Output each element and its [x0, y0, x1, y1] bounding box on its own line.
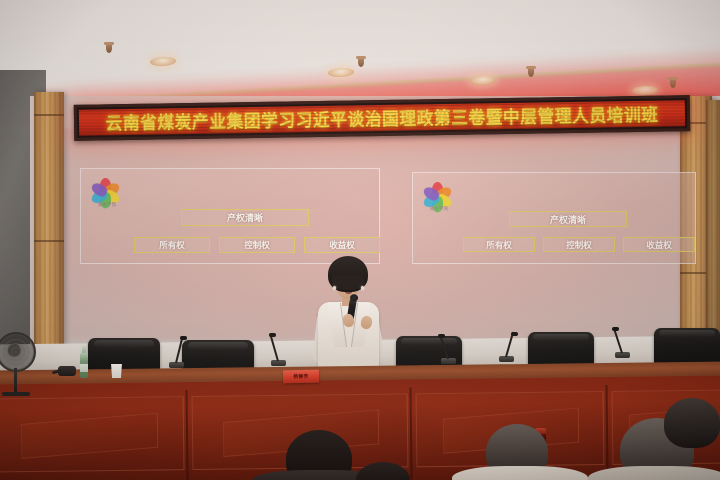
projection-screen-right: 清木学院 产权清晰 所有权 控制权 收益权 — [412, 172, 696, 264]
desk-microphone — [496, 328, 518, 362]
slide-logo-right: 清木学院 — [421, 179, 455, 217]
gavel — [58, 366, 76, 376]
stage-chair — [654, 328, 720, 366]
stage-table-front — [0, 376, 720, 480]
nameplate-text: 杨静芳 — [293, 373, 308, 380]
slide-box-control: 控制权 — [219, 237, 295, 253]
slide-logo-caption: 清木学院 — [423, 206, 455, 213]
table-panel-seam — [409, 387, 412, 479]
audience-shoulder — [588, 466, 720, 480]
desk-microphone — [438, 330, 460, 364]
audience-shoulder — [452, 466, 588, 480]
slide-logo-caption: 清木学院 — [91, 202, 123, 209]
pedestal-fan — [0, 330, 42, 396]
slide-box-ownership: 所有权 — [463, 237, 535, 252]
fan-base — [2, 392, 30, 396]
banner-title-text: 云南省煤炭产业集团学习习近平谈治国理政第三卷暨中层管理人员培训班 — [105, 101, 658, 135]
slide-box-control: 控制权 — [543, 237, 615, 252]
slide-box-ownership: 所有权 — [134, 237, 210, 253]
sprinkler-icon — [528, 68, 534, 77]
table-panel — [0, 396, 184, 472]
fan-pole — [14, 368, 17, 394]
table-panel-seam — [605, 385, 608, 477]
slide-box-income: 收益权 — [304, 237, 380, 253]
slide-box-income: 收益权 — [623, 237, 695, 252]
slide-logo-left: 清木学院 — [89, 175, 123, 213]
table-panel-seam — [185, 390, 188, 480]
earring-icon — [333, 286, 336, 290]
fan-cage-icon — [0, 332, 36, 372]
led-banner-screen: 云南省煤炭产业集团学习习近平谈治国理政第三卷暨中层管理人员培训班 — [79, 100, 685, 136]
paper-cup — [110, 364, 123, 378]
slide-box-top: 产权清晰 — [181, 209, 309, 226]
earring-icon — [361, 286, 364, 290]
slide-box-top: 产权清晰 — [509, 211, 627, 227]
desk-nameplate: 杨静芳 — [283, 370, 319, 384]
audience-head — [664, 398, 720, 448]
sprinkler-icon — [358, 58, 364, 67]
conference-hall-photo: 云南省煤炭产业集团学习习近平谈治国理政第三卷暨中层管理人员培训班 清木学院 产权… — [0, 0, 720, 480]
flower-logo-icon — [421, 179, 453, 207]
water-bottle — [80, 352, 88, 378]
desk-microphone — [612, 324, 634, 358]
desk-microphone — [268, 330, 290, 366]
projection-screen-left: 清木学院 产权清晰 所有权 控制权 收益权 — [80, 168, 380, 264]
sprinkler-icon — [670, 79, 676, 88]
desk-microphone — [166, 332, 188, 368]
flower-logo-icon — [89, 175, 121, 203]
sprinkler-icon — [106, 44, 112, 53]
